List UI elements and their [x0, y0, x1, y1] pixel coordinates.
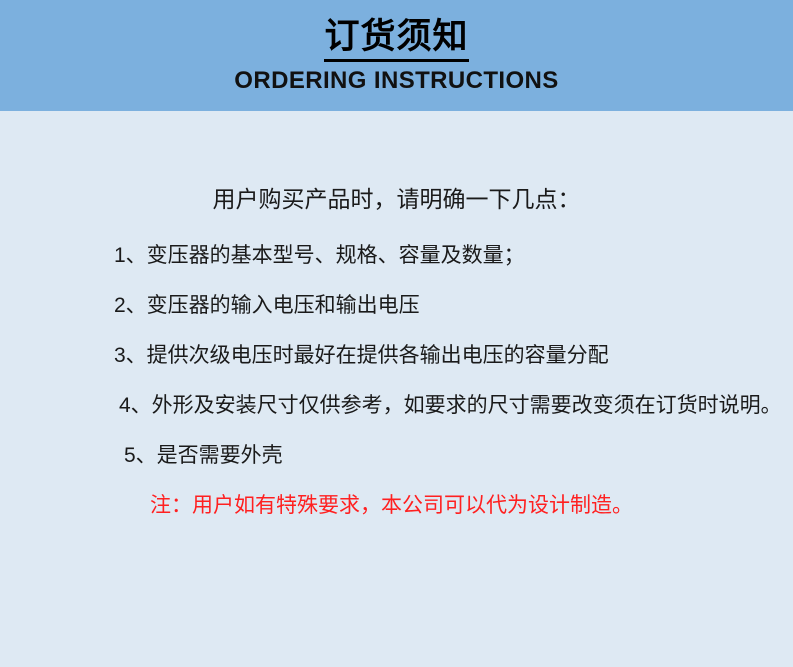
- list-item: 1、变压器的基本型号、规格、容量及数量；: [114, 241, 525, 271]
- page-title-english: ORDERING INSTRUCTIONS: [0, 66, 793, 96]
- content-area: 用户购买产品时，请明确一下几点： 1、变压器的基本型号、规格、容量及数量； 2、…: [0, 111, 793, 667]
- ordering-instructions-page: 订货须知 ORDERING INSTRUCTIONS 用户购买产品时，请明确一下…: [0, 0, 793, 667]
- intro-text: 用户购买产品时，请明确一下几点：: [0, 183, 793, 215]
- header-band: 订货须知 ORDERING INSTRUCTIONS: [0, 0, 793, 111]
- page-title-chinese: 订货须知: [0, 16, 793, 62]
- list-item: 2、变压器的输入电压和输出电压: [114, 291, 420, 321]
- note-text: 注：用户如有特殊要求，本公司可以代为设计制造。: [150, 491, 633, 521]
- list-item: 5、是否需要外壳: [124, 441, 283, 471]
- page-title-chinese-text: 订货须知: [324, 16, 468, 62]
- list-item: 4、外形及安装尺寸仅供参考，如要求的尺寸需要改变须在订货时说明。: [119, 391, 782, 421]
- list-item: 3、提供次级电压时最好在提供各输出电压的容量分配: [114, 341, 609, 371]
